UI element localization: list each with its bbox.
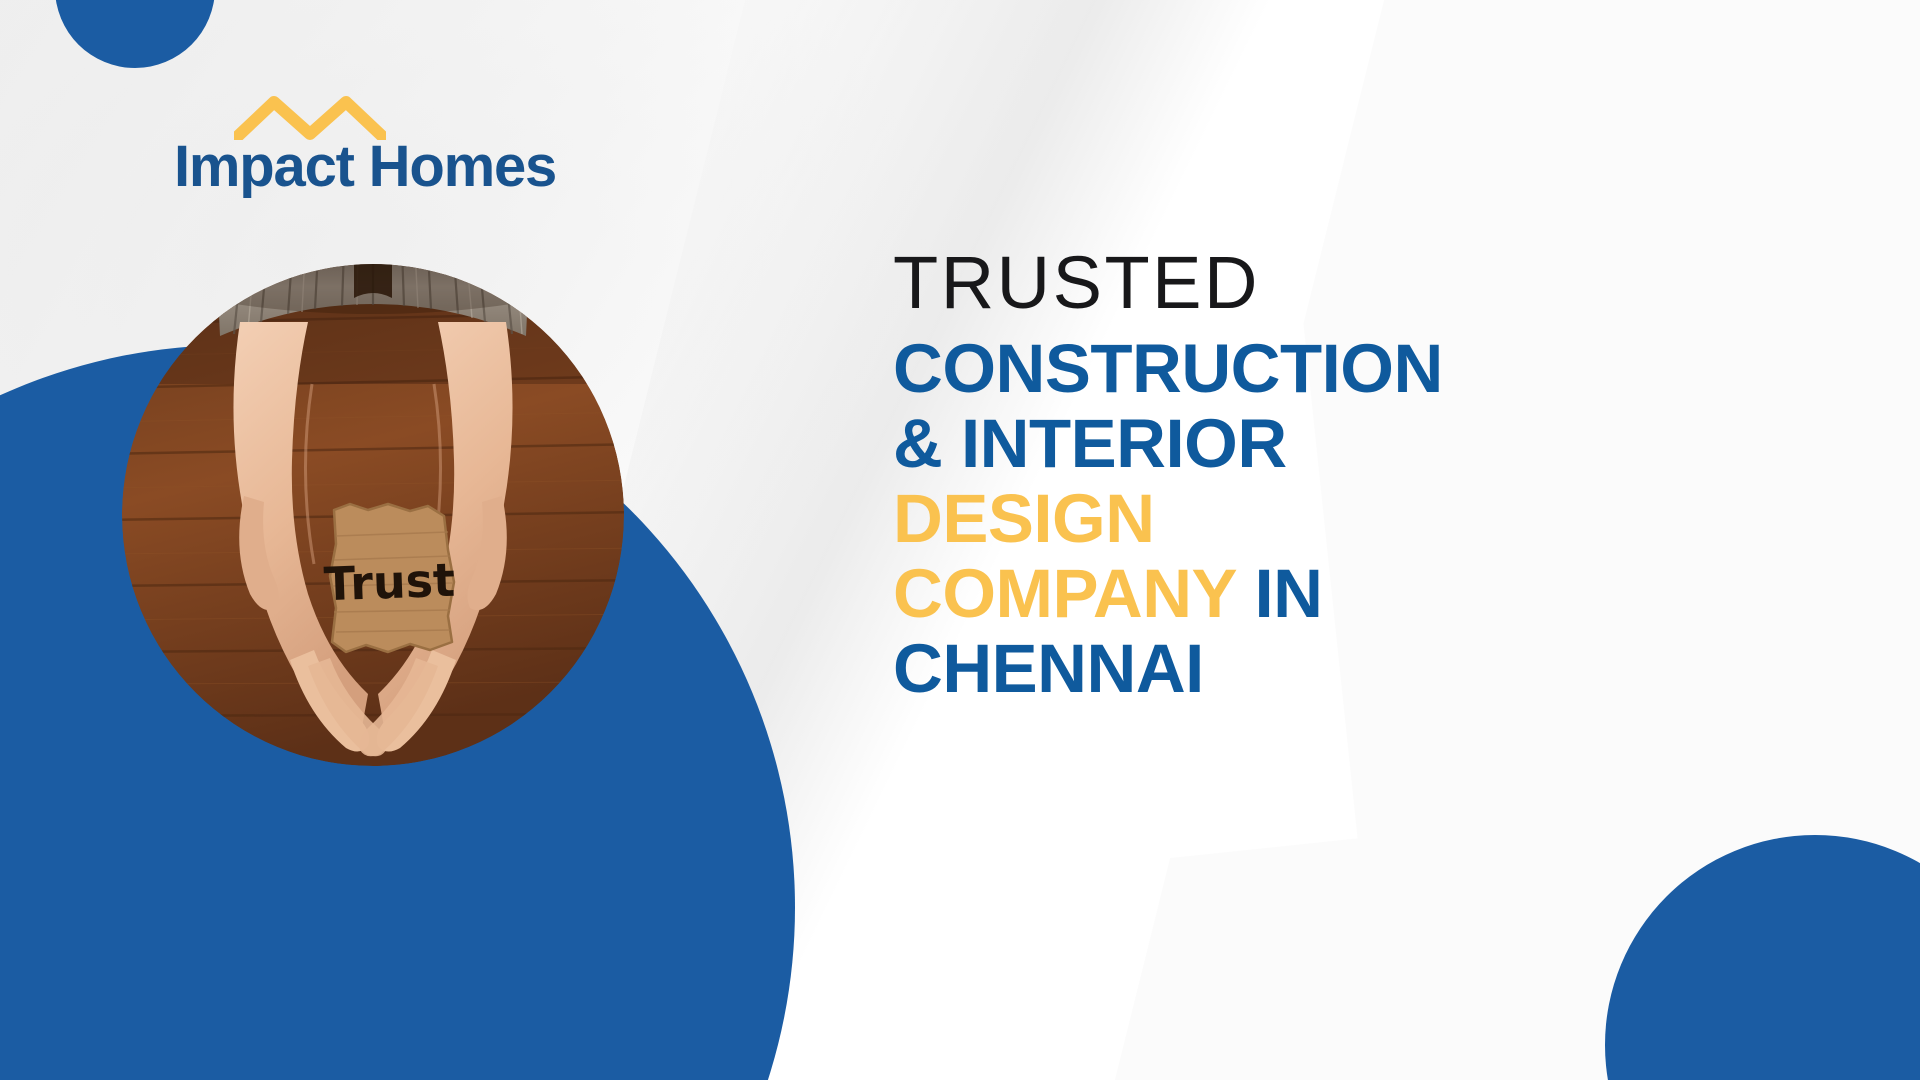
- banner-canvas: Impact Homes: [0, 0, 1920, 1080]
- hands-holding-trust-cardboard-image: Trust: [122, 264, 624, 766]
- headline-line-construction: CONSTRUCTION: [893, 334, 1633, 403]
- headline-line-trusted: TRUSTED: [893, 246, 1633, 320]
- headline-line-chennai: CHENNAI: [893, 634, 1633, 703]
- hero-photo-circle: Trust: [122, 264, 624, 766]
- decor-bottom-right-circle: [1605, 835, 1920, 1080]
- brand-logo[interactable]: Impact Homes: [174, 96, 574, 196]
- headline-line-design: DESIGN: [893, 484, 1633, 553]
- headline-word-in: IN: [1236, 555, 1323, 632]
- cardboard-trust-text: Trust: [323, 553, 456, 612]
- headline-word-company: COMPANY: [893, 555, 1236, 632]
- headline-line-company-in: COMPANY IN: [893, 559, 1633, 628]
- headline-line-interior: & INTERIOR: [893, 409, 1633, 478]
- brand-name: Impact Homes: [174, 138, 574, 196]
- headline-block: TRUSTED CONSTRUCTION & INTERIOR DESIGN C…: [893, 246, 1633, 709]
